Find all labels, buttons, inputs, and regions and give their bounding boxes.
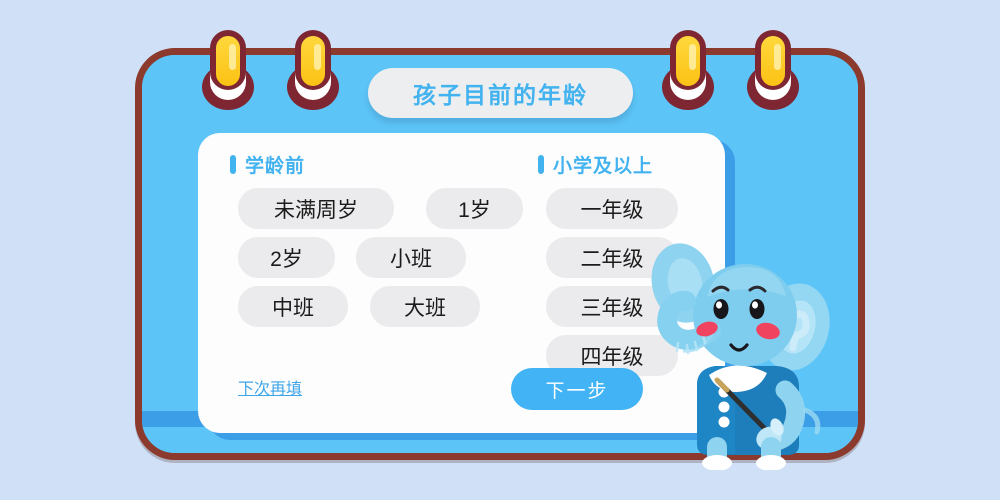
binder-ring-icon xyxy=(665,30,711,108)
binder-ring-icon xyxy=(750,30,796,108)
binder-ring-icon xyxy=(205,30,251,108)
option-chip-school-0[interactable]: 一年级 xyxy=(546,188,678,229)
option-chip-preschool-4[interactable]: 中班 xyxy=(238,286,348,327)
screen-root: 孩子目前的年龄 学龄前 小学及以上 未满周岁 1岁 2岁 小班 中班 大班 一年… xyxy=(0,0,1000,500)
page-title-pill: 孩子目前的年龄 xyxy=(368,68,633,118)
section-header-preschool: 学龄前 xyxy=(230,151,305,178)
binder-ring-icon xyxy=(290,30,336,108)
section-label-preschool: 学龄前 xyxy=(245,151,305,178)
option-chip-preschool-2[interactable]: 2岁 xyxy=(238,237,335,278)
section-header-school: 小学及以上 xyxy=(538,151,653,178)
option-chip-preschool-3[interactable]: 小班 xyxy=(356,237,466,278)
section-marker-bar-icon xyxy=(230,155,236,174)
option-chip-preschool-5[interactable]: 大班 xyxy=(370,286,480,327)
section-marker-bar-icon xyxy=(538,155,544,174)
skip-link[interactable]: 下次再填 xyxy=(238,375,302,399)
section-label-school: 小学及以上 xyxy=(553,151,653,178)
page-title: 孩子目前的年龄 xyxy=(413,76,588,110)
option-chip-preschool-1[interactable]: 1岁 xyxy=(426,188,523,229)
next-step-button[interactable]: 下一步 xyxy=(511,368,643,410)
option-chip-preschool-0[interactable]: 未满周岁 xyxy=(238,188,394,229)
elephant-mascot-icon xyxy=(645,235,860,470)
